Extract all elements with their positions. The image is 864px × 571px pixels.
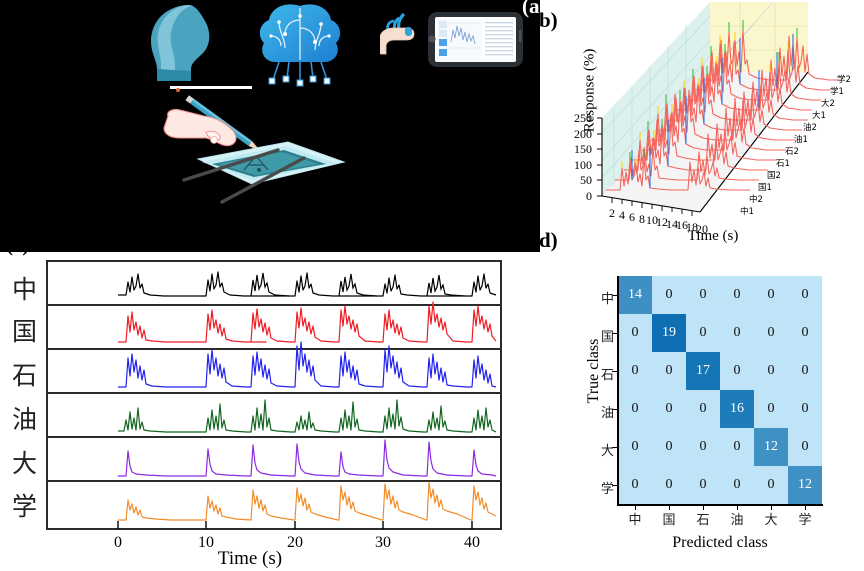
- panel-c-row-label-you: 油: [12, 400, 37, 436]
- panel-c-row-label-xue: 学: [12, 487, 37, 523]
- cm-cell: 0: [686, 390, 720, 428]
- cm-cell: 0: [720, 276, 754, 314]
- cm-col-label-you: 油: [720, 509, 754, 528]
- cm-row-label-xue: 学: [592, 478, 614, 497]
- panel-b-waterfall: Response (%) Time (s) 0 50 100 150 200 2…: [540, 0, 864, 252]
- panel-b-depth-label-xue2: 学2: [837, 73, 851, 85]
- sound-waveform-icon: [18, 28, 126, 70]
- panel-c-xtick-0: 0: [98, 534, 138, 552]
- cm-col-label-guo: 国: [652, 509, 686, 528]
- cm-cell: 0: [788, 390, 822, 428]
- cm-cell: 0: [618, 390, 652, 428]
- hand-writing-pencil-icon: [160, 84, 350, 204]
- cm-row-label-da: 大: [592, 440, 614, 459]
- cm-cell: 0: [788, 352, 822, 390]
- human-head-icon: [145, 3, 215, 83]
- panel-b-depth-label-da1: 大1: [812, 109, 826, 121]
- cm-cell-diagonal: 12: [788, 466, 822, 504]
- panel-c-xtick-30: 30: [363, 534, 403, 552]
- cm-cell: 0: [618, 428, 652, 466]
- panel-c-label: (c): [6, 232, 29, 257]
- panel-c-x-axis-label: Time (s): [160, 548, 340, 570]
- panel-c-row-label-da: 大: [12, 444, 37, 480]
- panel-b-ytick-150: 150: [562, 142, 592, 157]
- cm-cell: 0: [754, 314, 788, 352]
- cm-col-label-xue: 学: [788, 509, 822, 528]
- panel-b-depth-label-shi1: 石1: [776, 157, 790, 169]
- panel-b-depth-label-zhong2: 中2: [749, 193, 763, 205]
- cm-cell: 0: [788, 314, 822, 352]
- panel-a-schematic: (a): [0, 0, 540, 252]
- cm-col-label-zhong: 中: [618, 509, 652, 528]
- cm-cell-diagonal: 14: [618, 276, 652, 314]
- cm-cell: 0: [720, 352, 754, 390]
- cm-cell: 0: [754, 390, 788, 428]
- cm-cell: 0: [686, 314, 720, 352]
- cm-row-label-zhong: 中: [592, 288, 614, 307]
- cm-x-axis: [617, 504, 823, 506]
- panel-c-traces: 中 国 石 油 大 学: [0, 252, 540, 571]
- cm-cell: 0: [652, 276, 686, 314]
- panel-b-x-axis-label: Time (s): [628, 228, 798, 245]
- cm-cell-diagonal: 12: [754, 428, 788, 466]
- cm-cell: 0: [754, 276, 788, 314]
- panel-b-ytick-50: 50: [562, 173, 592, 188]
- cm-cell: 0: [686, 276, 720, 314]
- cm-cell-diagonal: 16: [720, 390, 754, 428]
- cm-cell: 0: [720, 428, 754, 466]
- panel-b-depth-label-da2: 大2: [821, 97, 835, 109]
- cm-cell: 0: [652, 352, 686, 390]
- panel-d-confusion-matrix: 1400000019000000170000001600000012000000…: [540, 252, 864, 571]
- panel-d-x-axis-label: Predicted class: [620, 534, 820, 552]
- cm-cell: 0: [788, 428, 822, 466]
- panel-b-depth-label-shi2: 石2: [785, 145, 799, 157]
- cm-col-label-shi: 石: [686, 509, 720, 528]
- cm-col-label-da: 大: [754, 509, 788, 528]
- cm-cell: 0: [686, 428, 720, 466]
- cm-cell: 0: [652, 466, 686, 504]
- panel-b-depth-label-you1: 油1: [794, 133, 808, 145]
- panel-c-row-label-shi: 石: [12, 356, 37, 392]
- cm-cell: 0: [652, 390, 686, 428]
- cm-y-axis: [617, 276, 619, 505]
- cm-cell: 0: [618, 314, 652, 352]
- cm-cell: 0: [754, 466, 788, 504]
- panel-b-ytick-100: 100: [562, 158, 592, 173]
- cm-cell: 0: [652, 428, 686, 466]
- panel-b-depth-label-guo1: 国1: [758, 181, 772, 193]
- hand-holding-smartphone-icon: [380, 8, 525, 80]
- panel-b-ytick-250: 250: [562, 111, 592, 126]
- panel-c-plot-area: [46, 260, 502, 530]
- cm-cell: 0: [686, 466, 720, 504]
- panel-b-ytick-0: 0: [562, 189, 592, 204]
- panel-b-depth-label-guo2: 国2: [767, 169, 781, 181]
- cm-cell: 0: [618, 352, 652, 390]
- cm-cell: 0: [788, 276, 822, 314]
- cm-cell: 0: [720, 466, 754, 504]
- cm-cell: 0: [754, 352, 788, 390]
- panel-c-row-label-guo: 国: [12, 312, 37, 348]
- cm-cell-diagonal: 17: [686, 352, 720, 390]
- panel-b-label: (b): [532, 8, 558, 33]
- panel-d-label: (d): [532, 228, 558, 253]
- panel-b-depth-label-zhong1: 中1: [740, 205, 754, 217]
- neural-network-brain-icon: [255, 2, 345, 90]
- figure-root: (a): [0, 0, 864, 571]
- confusion-matrix-grid: 1400000019000000170000001600000012000000…: [618, 276, 822, 504]
- cm-cell: 0: [618, 466, 652, 504]
- panel-b-ytick-200: 200: [562, 127, 592, 142]
- panel-b-depth-label-xue1: 学1: [830, 85, 844, 97]
- cm-cell: 0: [720, 314, 754, 352]
- panel-d-y-axis-label: True class: [585, 311, 603, 431]
- panel-c-xtick-40: 40: [452, 534, 492, 552]
- cm-cell-diagonal: 19: [652, 314, 686, 352]
- panel-c-row-label-zhong: 中: [12, 270, 37, 306]
- panel-b-xtick-20: 20: [691, 222, 713, 237]
- panel-b-depth-label-you2: 油2: [803, 121, 817, 133]
